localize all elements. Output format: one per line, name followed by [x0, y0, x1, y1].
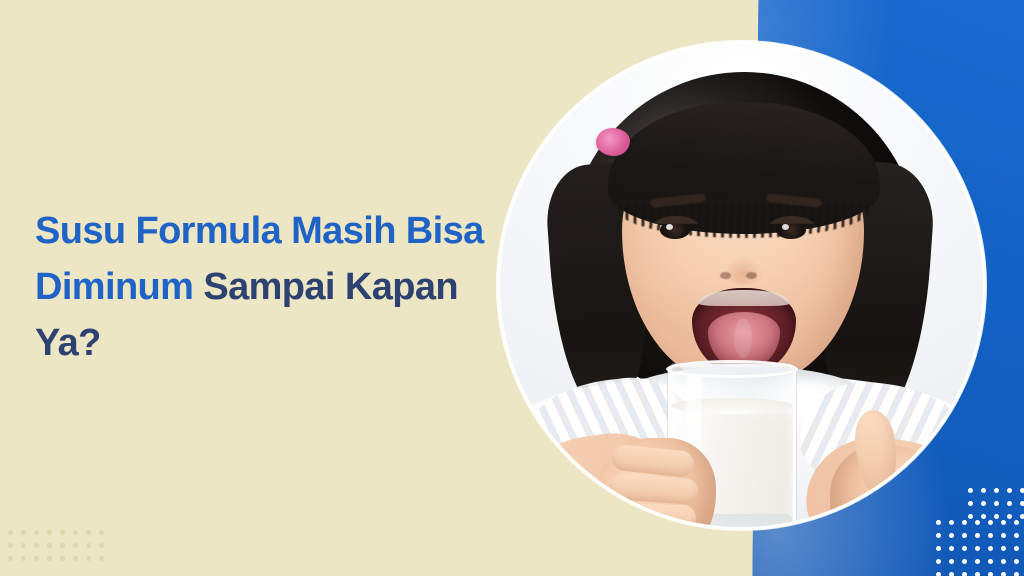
decorative-dot — [34, 556, 39, 561]
decorative-dot — [936, 572, 941, 576]
decorative-dot — [86, 543, 91, 548]
decorative-dot — [1014, 520, 1019, 525]
decorative-dot — [47, 556, 52, 561]
decorative-dot — [936, 559, 941, 564]
upper-teeth — [698, 290, 790, 306]
decorative-dot — [8, 556, 13, 561]
decorative-dot — [994, 501, 999, 506]
decorative-dot — [1001, 559, 1006, 564]
decorative-dot — [1001, 572, 1006, 576]
headline: Susu Formula Masih Bisa Diminum Sampai K… — [35, 203, 495, 371]
eye-left — [650, 216, 702, 240]
decorative-dot — [1001, 546, 1006, 551]
decorative-dot — [994, 514, 999, 519]
decorative-dot — [936, 546, 941, 551]
decorative-dot — [988, 533, 993, 538]
decorative-dot — [975, 559, 980, 564]
photo-content — [500, 44, 983, 527]
decorative-dot — [994, 488, 999, 493]
decorative-dot — [1007, 501, 1012, 506]
eye-right-lid — [766, 216, 818, 240]
nose — [719, 249, 767, 285]
decorative-dot — [60, 556, 65, 561]
decorative-dot — [8, 530, 13, 535]
decorative-dot — [60, 530, 65, 535]
pink-hairclip-icon — [596, 128, 630, 156]
decorative-dot — [988, 520, 993, 525]
decorative-dot — [962, 559, 967, 564]
decorative-dot — [975, 546, 980, 551]
decorative-dot — [73, 556, 78, 561]
decorative-dot — [1014, 533, 1019, 538]
decorative-dot — [73, 543, 78, 548]
decorative-dot — [988, 559, 993, 564]
banner-canvas: Susu Formula Masih Bisa Diminum Sampai K… — [0, 0, 1024, 576]
decorative-dot — [975, 533, 980, 538]
decorative-dot — [962, 533, 967, 538]
decorative-dot — [34, 543, 39, 548]
decorative-dot — [21, 530, 26, 535]
decorative-dot — [1020, 514, 1024, 519]
decorative-dot — [34, 530, 39, 535]
decorative-dot — [1020, 488, 1024, 493]
decorative-dot — [1014, 559, 1019, 564]
nostril-left — [720, 272, 731, 279]
eye-right — [766, 216, 818, 240]
eye-left-lid — [650, 216, 702, 240]
milk-glass-rim — [666, 360, 798, 378]
decorative-dot — [86, 530, 91, 535]
decorative-dot — [73, 530, 78, 535]
decorative-dot — [86, 556, 91, 561]
decorative-dot — [21, 556, 26, 561]
decorative-dot — [949, 572, 954, 576]
girl-with-milk-photo — [500, 44, 983, 527]
decorative-dot — [99, 543, 104, 548]
decorative-dot — [1001, 533, 1006, 538]
decorative-dot — [1020, 501, 1024, 506]
decorative-dot — [1014, 546, 1019, 551]
decorative-dot — [21, 543, 26, 548]
decorative-dot — [962, 572, 967, 576]
right-dot-grid-bottom — [936, 520, 1024, 576]
finger-3 — [612, 503, 697, 527]
decorative-dot — [975, 572, 980, 576]
decorative-dot — [988, 546, 993, 551]
decorative-dot — [47, 530, 52, 535]
nostril-right — [746, 272, 757, 279]
decorative-dot — [936, 533, 941, 538]
decorative-dot — [60, 543, 65, 548]
decorative-dot — [1007, 488, 1012, 493]
decorative-dot — [8, 543, 13, 548]
decorative-dot — [1014, 572, 1019, 576]
decorative-dot — [949, 559, 954, 564]
decorative-dot — [99, 530, 104, 535]
decorative-dot — [962, 546, 967, 551]
decorative-dot — [949, 546, 954, 551]
decorative-dot — [1007, 514, 1012, 519]
decorative-dot — [99, 556, 104, 561]
decorative-dot — [988, 572, 993, 576]
left-dot-grid — [8, 530, 108, 570]
decorative-dot — [949, 533, 954, 538]
decorative-dot — [1001, 520, 1006, 525]
decorative-dot — [47, 543, 52, 548]
